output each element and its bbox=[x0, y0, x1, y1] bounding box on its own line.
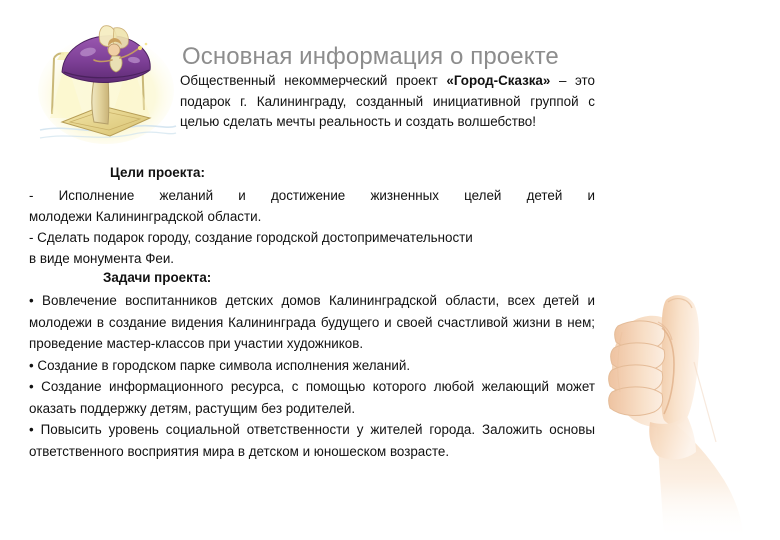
task-item: • Создание в городском парке символа исп… bbox=[29, 355, 595, 377]
task-item: • Вовлечение воспитанников детских домов… bbox=[29, 290, 595, 355]
goal-line-4: в виде монумента Феи. bbox=[29, 248, 595, 269]
task-item: • Повысить уровень социальной ответствен… bbox=[29, 419, 595, 462]
intro-part1: Общественный некоммерческий проект bbox=[180, 73, 446, 88]
goal-line-2: молодежи Калининградской области. bbox=[29, 206, 595, 227]
tasks-body: • Вовлечение воспитанников детских домов… bbox=[29, 290, 595, 462]
goal-line-3: - Сделать подарок городу, создание город… bbox=[29, 227, 595, 248]
slide-canvas: Основная информация о проекте Общественн… bbox=[0, 0, 780, 540]
goals-body: - Исполнение желаний и достижение жизнен… bbox=[29, 185, 595, 269]
goals-heading: Цели проекта: bbox=[110, 163, 205, 182]
page-title: Основная информация о проекте bbox=[182, 42, 742, 72]
intro-paragraph: Общественный некоммерческий проект «Горо… bbox=[180, 71, 595, 133]
goal-line-1: - Исполнение желаний и достижение жизнен… bbox=[29, 185, 595, 206]
project-name: «Город-Сказка» bbox=[446, 73, 550, 88]
tasks-heading: Задачи проекта: bbox=[103, 268, 211, 287]
fairy-on-mushroom-illustration bbox=[38, 18, 178, 146]
task-item: • Создание информационного ресурса, с по… bbox=[29, 376, 595, 419]
thumbs-up-hand-photo bbox=[604, 292, 780, 540]
